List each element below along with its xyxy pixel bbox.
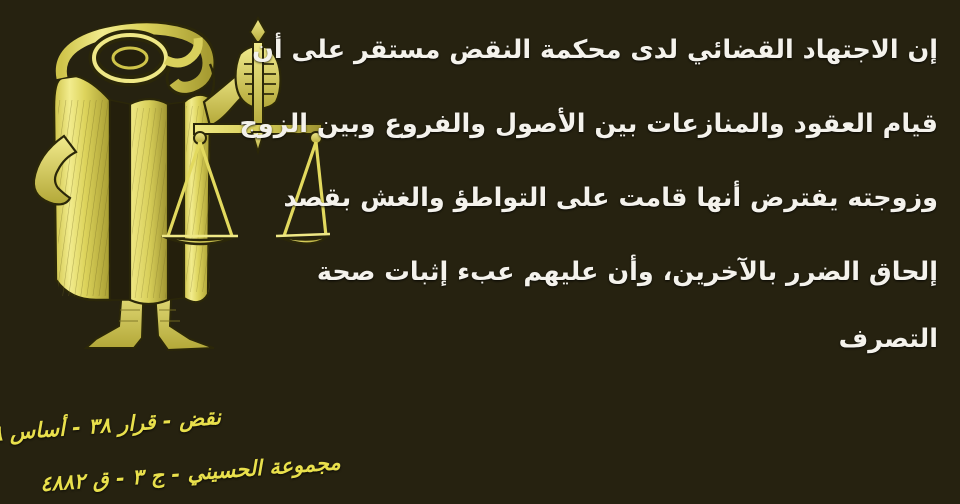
quote-line-2: قيام العقود والمنازعات بين الأصول والفرو… <box>318 88 938 162</box>
quote-card: إن الاجتهاد القضائي لدى محكمة النقض مستق… <box>0 0 960 504</box>
quote-line-3: وزوجته يفترض أنها قامت على التواطؤ والغش… <box>318 162 938 236</box>
quote-line-4: إلحاق الضرر بالآخرين، وأن عليهم عبء إثبا… <box>318 236 938 310</box>
rolled-document-body <box>54 76 210 304</box>
quote-line-5: التصرف <box>318 310 938 370</box>
quote-line-1: إن الاجتهاد القضائي لدى محكمة النقض مستق… <box>318 14 938 88</box>
quote-text-block: إن الاجتهاد القضائي لدى محكمة النقض مستق… <box>318 14 938 370</box>
citation-block: نقض - قرار ٣٨ - أساس ٦٨ - تاريخ ٧/٢/٢٠٠٠… <box>0 372 520 472</box>
